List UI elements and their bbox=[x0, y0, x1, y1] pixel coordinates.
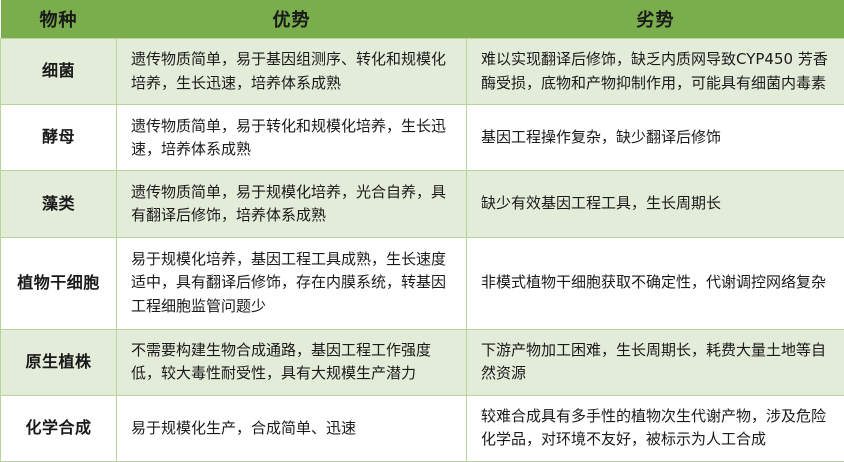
disadvantage-text: 下游产物加工困难，生长周期长，耗费大量土地等自然资源 bbox=[481, 339, 832, 386]
column-header-disadvantage: 劣势 bbox=[467, 0, 844, 39]
cell-species: 酵母 bbox=[1, 105, 117, 171]
cell-species: 原生植株 bbox=[1, 329, 117, 395]
cell-disadvantage: 基因工程操作复杂，缺少翻译后修饰 bbox=[467, 105, 844, 171]
cell-species: 细菌 bbox=[1, 39, 117, 105]
column-header-species: 物种 bbox=[1, 0, 117, 39]
cell-species: 化学合成 bbox=[1, 395, 117, 461]
cell-disadvantage: 非模式植物干细胞获取不确定性，代谢调控网络复杂 bbox=[467, 237, 844, 329]
advantage-text: 遗传物质简单，易于规模化培养，光合自养，具有翻译后修饰，培养体系成熟 bbox=[131, 181, 454, 228]
disadvantage-text: 基因工程操作复杂，缺少翻译后修饰 bbox=[481, 126, 832, 149]
advantage-text: 遗传物质简单，易于基因组测序、转化和规模化培养，生长迅速，培养体系成熟 bbox=[131, 48, 454, 95]
cell-advantage: 遗传物质简单，易于转化和规模化培养，生长迅速，培养体系成熟 bbox=[117, 105, 467, 171]
species-label: 细菌 bbox=[3, 59, 114, 84]
cell-species: 藻类 bbox=[1, 171, 117, 237]
advantage-text: 遗传物质简单，易于转化和规模化培养，生长迅速，培养体系成熟 bbox=[131, 115, 454, 162]
species-label: 植物干细胞 bbox=[3, 271, 114, 296]
cell-advantage: 易于规模化生产，合成简单、迅速 bbox=[117, 395, 467, 461]
header-row: 物种 优势 劣势 bbox=[1, 0, 844, 39]
table-header: 物种 优势 劣势 bbox=[1, 0, 844, 39]
disadvantage-text: 难以实现翻译后修饰，缺乏内质网导致CYP450 芳香酶受损，底物和产物抑制作用，… bbox=[481, 48, 832, 95]
cell-disadvantage: 下游产物加工困难，生长周期长，耗费大量土地等自然资源 bbox=[467, 329, 844, 395]
cell-disadvantage: 难以实现翻译后修饰，缺乏内质网导致CYP450 芳香酶受损，底物和产物抑制作用，… bbox=[467, 39, 844, 105]
column-header-advantage: 优势 bbox=[117, 0, 467, 39]
species-label: 藻类 bbox=[3, 192, 114, 217]
table-row: 细菌遗传物质简单，易于基因组测序、转化和规模化培养，生长迅速，培养体系成熟难以实… bbox=[1, 39, 844, 105]
table-row: 藻类遗传物质简单，易于规模化培养，光合自养，具有翻译后修饰，培养体系成熟缺少有效… bbox=[1, 171, 844, 237]
cell-species: 植物干细胞 bbox=[1, 237, 117, 329]
species-label: 化学合成 bbox=[3, 416, 114, 441]
cell-disadvantage: 较难合成具有多手性的植物次生代谢产物，涉及危险化学品，对环境不友好，被标示为人工… bbox=[467, 395, 844, 461]
species-label: 原生植株 bbox=[3, 350, 114, 375]
advantage-text: 易于规模化培养，基因工程工具成熟，生长速度适中，具有翻译后修饰，存在内膜系统，转… bbox=[131, 248, 454, 318]
cell-advantage: 遗传物质简单，易于基因组测序、转化和规模化培养，生长迅速，培养体系成熟 bbox=[117, 39, 467, 105]
advantage-text: 不需要构建生物合成通路，基因工程工作强度低，较大毒性耐受性，具有大规模生产潜力 bbox=[131, 339, 454, 386]
disadvantage-text: 较难合成具有多手性的植物次生代谢产物，涉及危险化学品，对环境不友好，被标示为人工… bbox=[481, 405, 832, 452]
table-body: 细菌遗传物质简单，易于基因组测序、转化和规模化培养，生长迅速，培养体系成熟难以实… bbox=[1, 39, 844, 462]
species-label: 酵母 bbox=[3, 125, 114, 150]
disadvantage-text: 缺少有效基因工程工具，生长周期长 bbox=[481, 192, 832, 215]
species-comparison-table: 物种 优势 劣势 细菌遗传物质简单，易于基因组测序、转化和规模化培养，生长迅速，… bbox=[0, 0, 844, 462]
cell-disadvantage: 缺少有效基因工程工具，生长周期长 bbox=[467, 171, 844, 237]
table-row: 化学合成易于规模化生产，合成简单、迅速较难合成具有多手性的植物次生代谢产物，涉及… bbox=[1, 395, 844, 461]
table-row: 原生植株不需要构建生物合成通路，基因工程工作强度低，较大毒性耐受性，具有大规模生… bbox=[1, 329, 844, 395]
cell-advantage: 不需要构建生物合成通路，基因工程工作强度低，较大毒性耐受性，具有大规模生产潜力 bbox=[117, 329, 467, 395]
cell-advantage: 遗传物质简单，易于规模化培养，光合自养，具有翻译后修饰，培养体系成熟 bbox=[117, 171, 467, 237]
table-row: 植物干细胞易于规模化培养，基因工程工具成熟，生长速度适中，具有翻译后修饰，存在内… bbox=[1, 237, 844, 329]
cell-advantage: 易于规模化培养，基因工程工具成熟，生长速度适中，具有翻译后修饰，存在内膜系统，转… bbox=[117, 237, 467, 329]
disadvantage-text: 非模式植物干细胞获取不确定性，代谢调控网络复杂 bbox=[481, 271, 832, 294]
advantage-text: 易于规模化生产，合成简单、迅速 bbox=[131, 417, 454, 440]
table-row: 酵母遗传物质简单，易于转化和规模化培养，生长迅速，培养体系成熟基因工程操作复杂，… bbox=[1, 105, 844, 171]
